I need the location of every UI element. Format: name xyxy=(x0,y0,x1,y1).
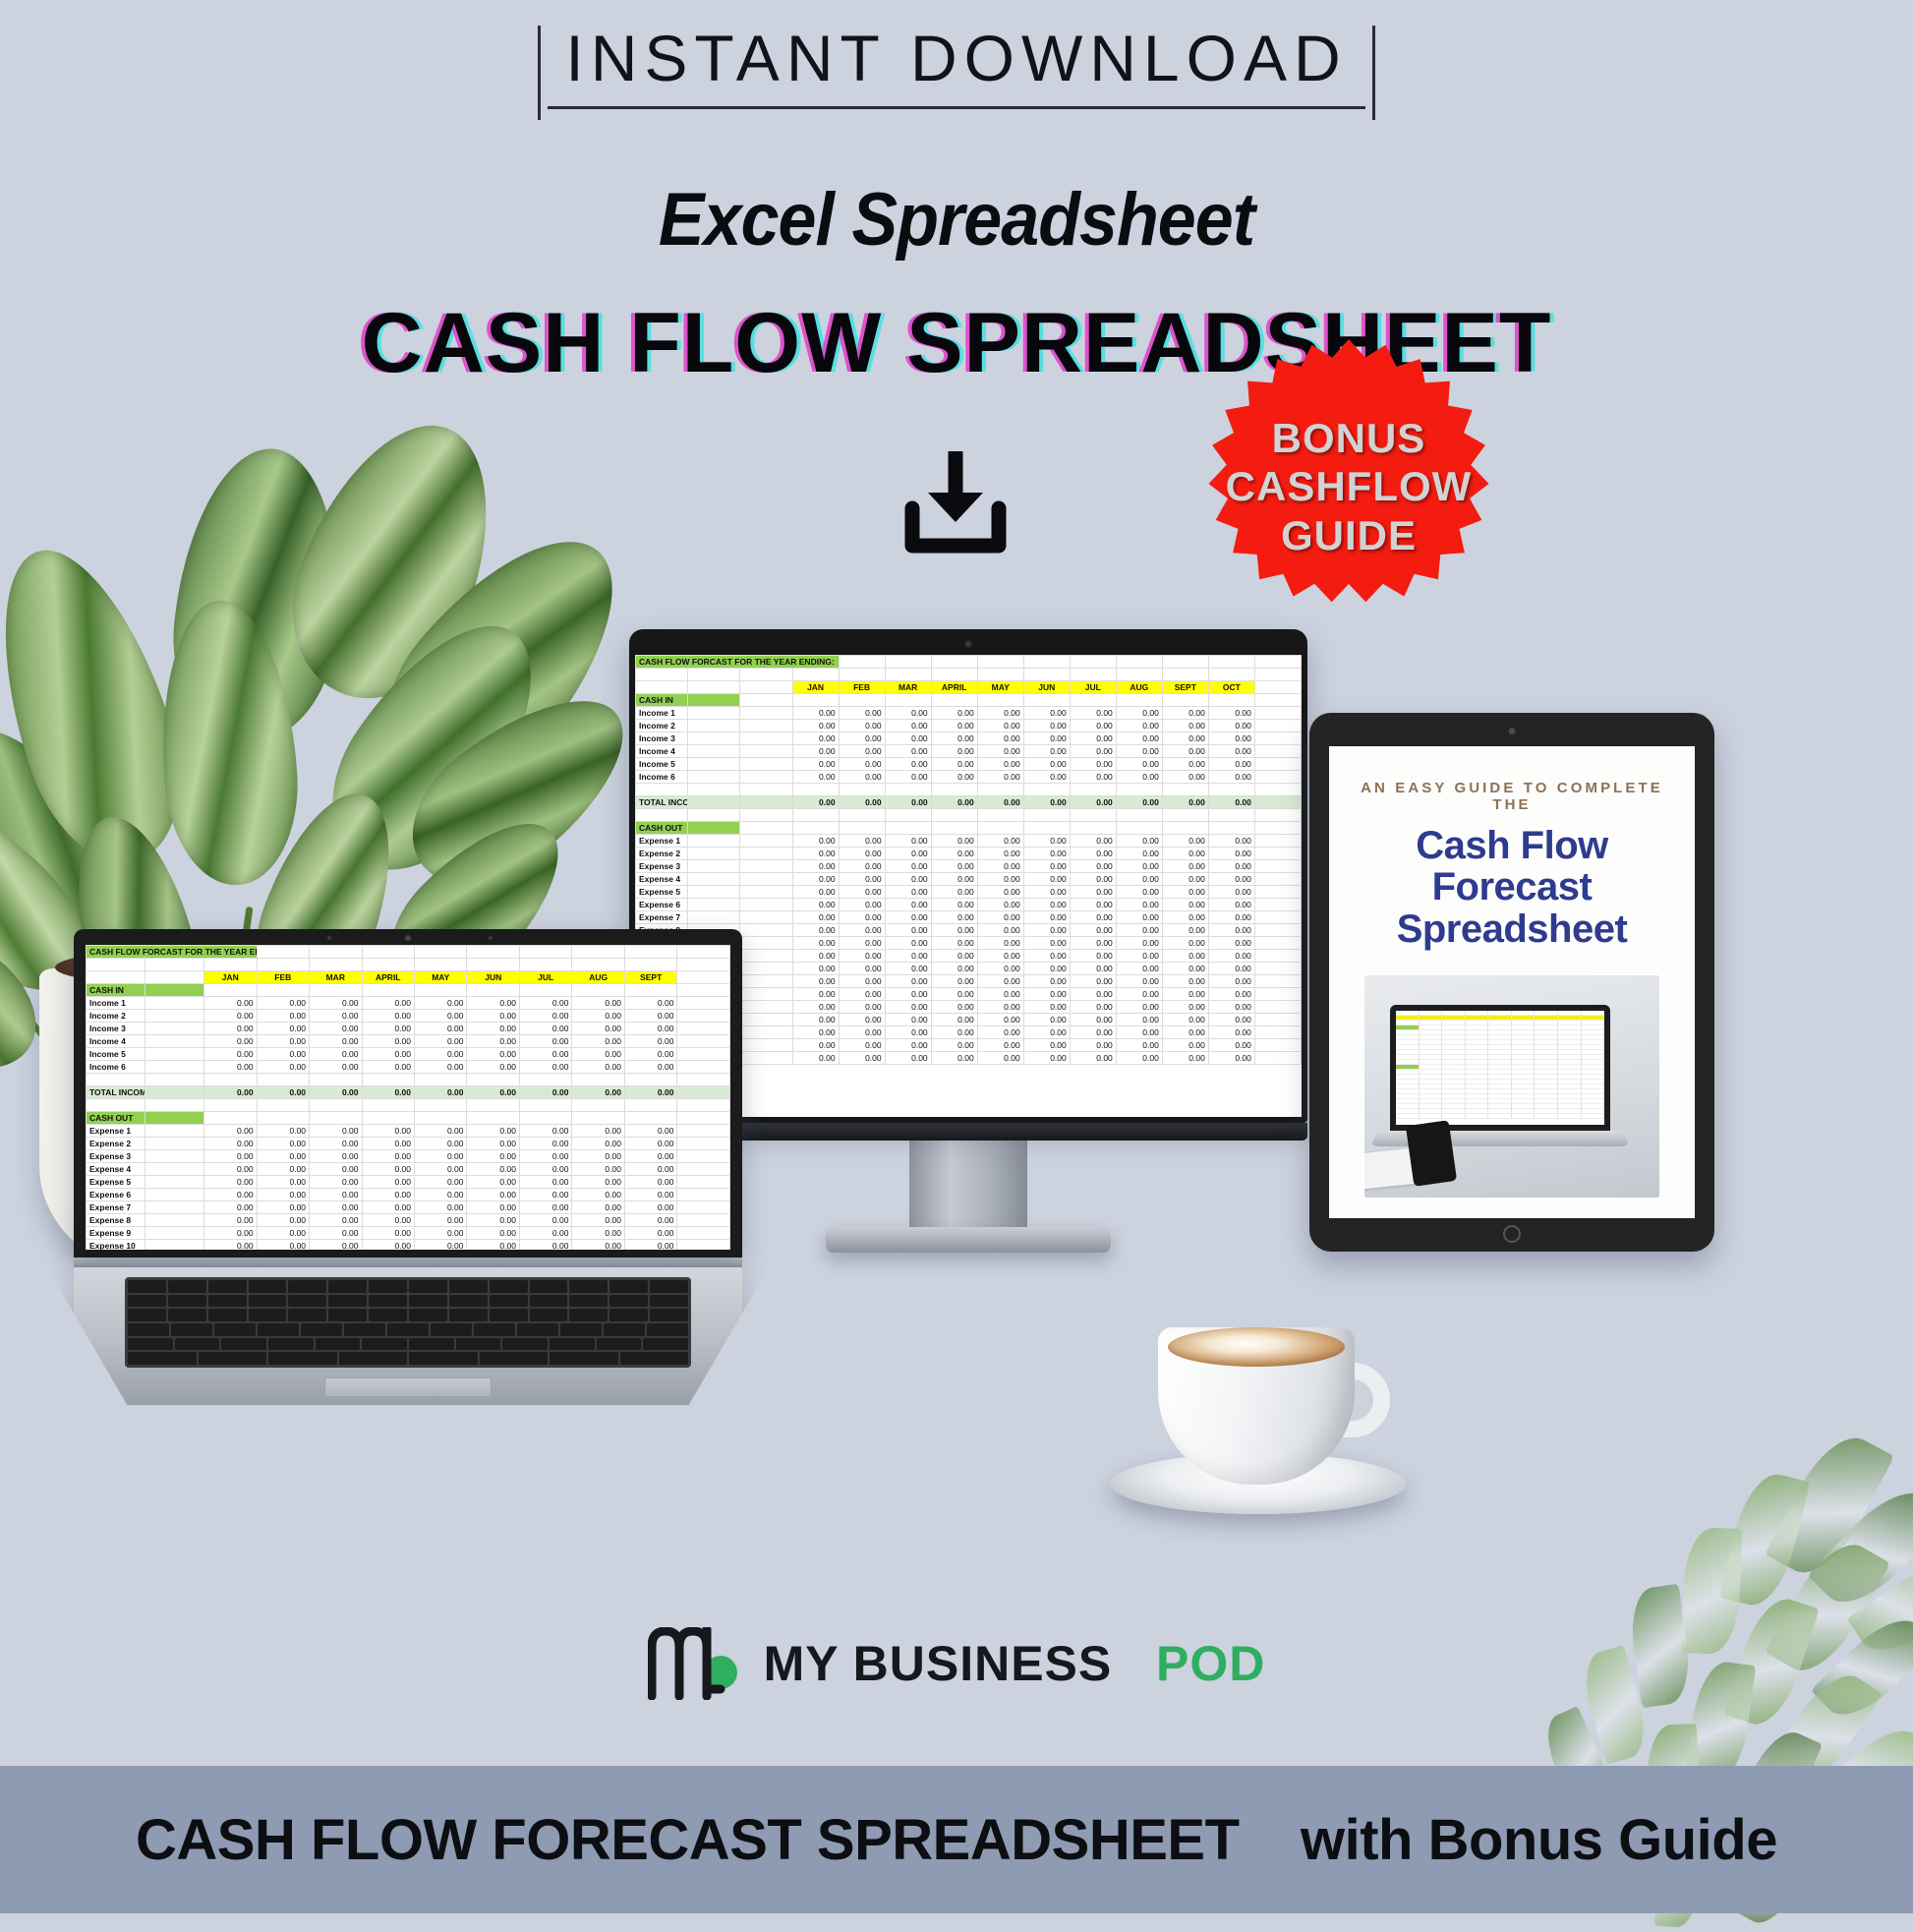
header-rule-right xyxy=(1372,26,1375,120)
keyboard-key[interactable] xyxy=(647,1323,688,1336)
banner-main-text: CASH FLOW FORECAST SPREADSHEET xyxy=(136,1808,1240,1872)
sheet-income-row: Income 20.000.000.000.000.000.000.000.00… xyxy=(636,720,1302,732)
monitor-camera-icon xyxy=(964,640,972,648)
laptop-lid: CASH FLOW FORCAST FOR THE YEAR ENDING:JA… xyxy=(74,929,742,1258)
keyboard-key[interactable] xyxy=(530,1309,568,1321)
keyboard-key[interactable] xyxy=(316,1338,361,1351)
tablet-home-button[interactable] xyxy=(1503,1225,1521,1243)
keyboard-key[interactable] xyxy=(328,1280,367,1293)
keyboard-key[interactable] xyxy=(288,1295,326,1308)
keyboard-key[interactable] xyxy=(449,1309,488,1321)
keyboard-key[interactable] xyxy=(502,1338,548,1351)
coffee-crema xyxy=(1168,1327,1345,1367)
keyboard-key[interactable] xyxy=(387,1323,429,1336)
sheet-expense-row: Expense 50.000.000.000.000.000.000.000.0… xyxy=(636,886,1302,899)
keyboard-key[interactable] xyxy=(609,1280,648,1293)
sheet-expense-row: Expense 20.000.000.000.000.000.000.000.0… xyxy=(636,848,1302,860)
keyboard-key[interactable] xyxy=(643,1338,688,1351)
sheet-expense-row: Expense 80.000.000.000.000.000.000.000.0… xyxy=(87,1214,730,1227)
keyboard-key[interactable] xyxy=(409,1338,454,1351)
sheet-section-cash-in: CASH IN xyxy=(87,984,730,997)
bottom-banner-text: CASH FLOW FORECAST SPREADSHEET with Bonu… xyxy=(136,1807,1777,1873)
guide-kicker: AN EASY GUIDE TO COMPLETE THE xyxy=(1349,780,1675,813)
keyboard-key[interactable] xyxy=(288,1280,326,1293)
sheet-income-row: Income 50.000.000.000.000.000.000.000.00… xyxy=(87,1048,730,1061)
sheet-income-row: Income 10.000.000.000.000.000.000.000.00… xyxy=(636,707,1302,720)
bonus-badge-line3: GUIDE xyxy=(1226,511,1473,560)
keyboard-key[interactable] xyxy=(328,1295,367,1308)
keyboard-key[interactable] xyxy=(530,1280,568,1293)
keyboard-key[interactable] xyxy=(168,1309,206,1321)
sheet-spacer-row xyxy=(636,784,1302,796)
keyboard-key[interactable] xyxy=(301,1323,342,1336)
keyboard-row[interactable] xyxy=(128,1280,688,1293)
mini-sheet-row xyxy=(1396,1114,1604,1119)
header-underline xyxy=(548,106,1364,109)
sheet-expense-row: Expense 70.000.000.000.000.000.000.000.0… xyxy=(636,911,1302,924)
keyboard-key[interactable] xyxy=(569,1309,608,1321)
keyboard-key[interactable] xyxy=(128,1352,197,1365)
brand-name-green: POD xyxy=(1156,1636,1265,1691)
sheet-spacer-row xyxy=(87,959,730,971)
sheet-income-row: Income 40.000.000.000.000.000.000.000.00… xyxy=(87,1035,730,1048)
keyboard-key[interactable] xyxy=(409,1352,478,1365)
sheet-month-header-row: JANFEBMARAPRILMAYJUNJULAUGSEPT xyxy=(87,971,730,984)
keyboard-key[interactable] xyxy=(530,1295,568,1308)
keyboard-key[interactable] xyxy=(258,1323,299,1336)
keyboard-key[interactable] xyxy=(490,1309,528,1321)
sheet-spacer-row xyxy=(636,669,1302,681)
sheet-expense-row: Expense 20.000.000.000.000.000.000.000.0… xyxy=(87,1138,730,1150)
tablet-mockup: AN EASY GUIDE TO COMPLETE THE Cash Flow … xyxy=(1309,713,1714,1252)
bonus-badge-text: BONUS CASHFLOW GUIDE xyxy=(1226,414,1473,560)
sheet-expense-row: Expense 30.000.000.000.000.000.000.000.0… xyxy=(87,1150,730,1163)
keyboard-key[interactable] xyxy=(604,1323,645,1336)
instant-download-text: INSTANT DOWNLOAD xyxy=(565,18,1347,99)
sheet-expense-row: Expense 100.000.000.000.000.000.000.000.… xyxy=(87,1240,730,1251)
keyboard-key[interactable] xyxy=(128,1309,166,1321)
keyboard-key[interactable] xyxy=(128,1323,169,1336)
laptop-trackpad[interactable] xyxy=(324,1377,492,1397)
product-listing-image: INSTANT DOWNLOAD Excel Spreadsheet CASH … xyxy=(0,0,1913,1913)
keyboard-row[interactable] xyxy=(128,1338,688,1351)
keyboard-key[interactable] xyxy=(249,1309,287,1321)
keyboard-key[interactable] xyxy=(268,1338,314,1351)
guide-photo-laptop xyxy=(1390,1005,1610,1131)
keyboard-key[interactable] xyxy=(490,1280,528,1293)
keyboard-key[interactable] xyxy=(609,1309,648,1321)
keyboard-key[interactable] xyxy=(569,1280,608,1293)
keyboard-key[interactable] xyxy=(550,1352,618,1365)
sheet-income-row: Income 20.000.000.000.000.000.000.000.00… xyxy=(87,1010,730,1023)
sheet-expense-row: Expense 50.000.000.000.000.000.000.000.0… xyxy=(87,1176,730,1189)
keyboard-key[interactable] xyxy=(199,1352,267,1365)
sheet-title-row: CASH FLOW FORCAST FOR THE YEAR ENDING: xyxy=(636,656,1302,669)
sheet-expense-row: Expense 10.000.000.000.000.000.000.000.0… xyxy=(636,835,1302,848)
subtitle-excel-spreadsheet: Excel Spreadsheet xyxy=(77,177,1836,263)
keyboard-key[interactable] xyxy=(208,1295,247,1308)
keyboard-key[interactable] xyxy=(214,1323,256,1336)
keyboard-key[interactable] xyxy=(480,1352,549,1365)
keyboard-key[interactable] xyxy=(175,1338,220,1351)
keyboard-key[interactable] xyxy=(409,1295,447,1308)
sheet-total-income-row: TOTAL INCOME0.000.000.000.000.000.000.00… xyxy=(636,796,1302,809)
keyboard-row[interactable] xyxy=(128,1309,688,1321)
sheet-expense-row: Expense 60.000.000.000.000.000.000.000.0… xyxy=(636,899,1302,911)
keyboard-key[interactable] xyxy=(620,1352,689,1365)
keyboard-key[interactable] xyxy=(288,1309,326,1321)
bonus-badge-line2: CASHFLOW xyxy=(1226,462,1473,511)
sheet-income-row: Income 30.000.000.000.000.000.000.000.00… xyxy=(87,1023,730,1035)
keyboard-key[interactable] xyxy=(168,1295,206,1308)
sheet-expense-row: Expense 40.000.000.000.000.000.000.000.0… xyxy=(87,1163,730,1176)
keyboard-key[interactable] xyxy=(268,1352,337,1365)
guide-photo-phone xyxy=(1406,1120,1457,1187)
keyboard-key[interactable] xyxy=(344,1323,385,1336)
monitor-stand-base xyxy=(826,1227,1111,1253)
keyboard-row[interactable] xyxy=(128,1352,688,1365)
bottom-banner: CASH FLOW FORECAST SPREADSHEET with Bonu… xyxy=(0,1766,1913,1913)
laptop-hinge xyxy=(74,1258,742,1267)
sheet-expense-row: Expense 10.000.000.000.000.000.000.000.0… xyxy=(87,1125,730,1138)
laptop-camera-icon xyxy=(405,935,411,941)
keyboard-key[interactable] xyxy=(128,1338,173,1351)
sheet-income-row: Income 10.000.000.000.000.000.000.000.00… xyxy=(87,997,730,1010)
laptop-mockup: CASH FLOW FORCAST FOR THE YEAR ENDING:JA… xyxy=(74,929,742,1405)
keyboard-key[interactable] xyxy=(128,1295,166,1308)
keyboard-key[interactable] xyxy=(369,1280,407,1293)
sheet-section-cash-out: CASH OUT xyxy=(87,1112,730,1125)
keyboard-key[interactable] xyxy=(474,1323,515,1336)
mb-monogram-icon xyxy=(648,1627,740,1700)
sheet-expense-row: Expense 30.000.000.000.000.000.000.000.0… xyxy=(636,860,1302,873)
laptop-sensor-left-icon xyxy=(327,936,331,940)
keyboard-key[interactable] xyxy=(650,1309,688,1321)
keyboard-key[interactable] xyxy=(362,1338,407,1351)
keyboard-key[interactable] xyxy=(431,1323,472,1336)
keyboard-key[interactable] xyxy=(597,1338,642,1351)
guide-title-line2: Spreadsheet xyxy=(1349,908,1675,950)
keyboard-key[interactable] xyxy=(650,1295,688,1308)
keyboard-key[interactable] xyxy=(128,1280,166,1293)
guide-cover-photo xyxy=(1364,975,1659,1198)
spreadsheet-laptop: CASH FLOW FORCAST FOR THE YEAR ENDING:JA… xyxy=(86,945,730,1250)
banner-bonus-text: with Bonus Guide xyxy=(1301,1808,1777,1872)
page-title: CASH FLOW SPREADSHEET xyxy=(0,295,1913,392)
keyboard-key[interactable] xyxy=(369,1309,407,1321)
keyboard-key[interactable] xyxy=(168,1280,206,1293)
bonus-badge-line1: BONUS xyxy=(1226,414,1473,463)
monitor-stand-neck xyxy=(909,1141,1027,1227)
keyboard-key[interactable] xyxy=(208,1309,247,1321)
laptop-deck xyxy=(74,1267,742,1405)
keyboard-key[interactable] xyxy=(249,1295,287,1308)
laptop-sensor-right-icon xyxy=(489,936,493,940)
keyboard-key[interactable] xyxy=(449,1280,488,1293)
sheet-income-row: Income 60.000.000.000.000.000.000.000.00… xyxy=(87,1061,730,1074)
guide-title-line1: Cash Flow Forecast xyxy=(1349,825,1675,908)
sheet-income-row: Income 30.000.000.000.000.000.000.000.00… xyxy=(636,732,1302,745)
keyboard-key[interactable] xyxy=(449,1295,488,1308)
sheet-income-row: Income 60.000.000.000.000.000.000.000.00… xyxy=(636,771,1302,784)
keyboard-key[interactable] xyxy=(409,1309,447,1321)
sheet-month-header-row: JANFEBMARAPRILMAYJUNJULAUGSEPTOCT xyxy=(636,681,1302,694)
sheet-spacer-row xyxy=(636,809,1302,822)
keyboard-key[interactable] xyxy=(369,1295,407,1308)
guide-title: Cash Flow Forecast Spreadsheet xyxy=(1349,825,1675,950)
keyboard-key[interactable] xyxy=(456,1338,501,1351)
coffee-cup-decoration xyxy=(1111,1278,1406,1514)
sheet-spacer-row xyxy=(87,1074,730,1086)
keyboard-key[interactable] xyxy=(490,1295,528,1308)
guide-photo-spreadsheet xyxy=(1396,1011,1604,1125)
instant-download-header: INSTANT DOWNLOAD xyxy=(0,18,1913,99)
sheet-section-cash-in: CASH IN xyxy=(636,694,1302,707)
keyboard-key[interactable] xyxy=(650,1280,688,1293)
sheet-title-row: CASH FLOW FORCAST FOR THE YEAR ENDING: xyxy=(87,946,730,959)
keyboard-key[interactable] xyxy=(171,1323,212,1336)
keyboard-key[interactable] xyxy=(609,1295,648,1308)
sheet-income-row: Income 50.000.000.000.000.000.000.000.00… xyxy=(636,758,1302,771)
sheet-expense-row: Expense 40.000.000.000.000.000.000.000.0… xyxy=(636,873,1302,886)
download-tray-icon xyxy=(899,447,1013,560)
keyboard-key[interactable] xyxy=(221,1338,266,1351)
keyboard-key[interactable] xyxy=(409,1280,447,1293)
tablet-camera-icon xyxy=(1509,728,1516,734)
keyboard-row[interactable] xyxy=(128,1323,688,1336)
tablet-body: AN EASY GUIDE TO COMPLETE THE Cash Flow … xyxy=(1309,713,1714,1252)
keyboard-key[interactable] xyxy=(569,1295,608,1308)
tablet-screen: AN EASY GUIDE TO COMPLETE THE Cash Flow … xyxy=(1329,746,1695,1218)
keyboard-key[interactable] xyxy=(249,1280,287,1293)
keyboard-key[interactable] xyxy=(560,1323,602,1336)
sheet-spacer-row xyxy=(87,1099,730,1112)
brand-name-dark: MY BUSINESS xyxy=(764,1636,1113,1691)
sheet-total-income-row: TOTAL INCOME0.000.000.000.000.000.000.00… xyxy=(87,1086,730,1099)
sheet-expense-row: Expense 90.000.000.000.000.000.000.000.0… xyxy=(87,1227,730,1240)
brand-logo: MY BUSINESS POD xyxy=(0,1627,1913,1700)
keyboard-key[interactable] xyxy=(339,1352,408,1365)
header-rule-left xyxy=(538,26,541,120)
brand-logo-text: MY BUSINESS POD xyxy=(764,1635,1266,1692)
keyboard-row[interactable] xyxy=(128,1295,688,1308)
sheet-expense-row: Expense 60.000.000.000.000.000.000.000.0… xyxy=(87,1189,730,1201)
sheet-section-cash-out: CASH OUT xyxy=(636,822,1302,835)
sheet-expense-row: Expense 70.000.000.000.000.000.000.000.0… xyxy=(87,1201,730,1214)
sheet-income-row: Income 40.000.000.000.000.000.000.000.00… xyxy=(636,745,1302,758)
keyboard-key[interactable] xyxy=(208,1280,247,1293)
keyboard-key[interactable] xyxy=(550,1338,595,1351)
keyboard-key[interactable] xyxy=(328,1309,367,1321)
laptop-keyboard[interactable] xyxy=(125,1277,691,1368)
keyboard-key[interactable] xyxy=(517,1323,558,1336)
laptop-screen: CASH FLOW FORCAST FOR THE YEAR ENDING:JA… xyxy=(86,945,730,1250)
